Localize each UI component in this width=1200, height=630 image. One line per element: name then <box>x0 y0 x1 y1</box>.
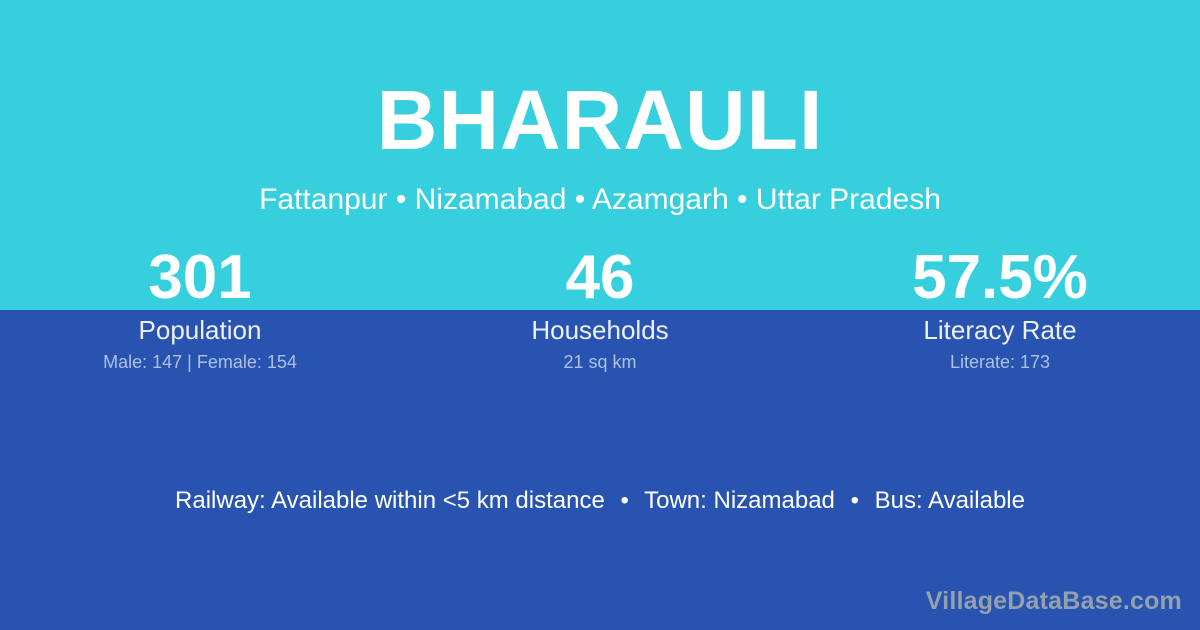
amenities-summary: Railway: Available within <5 km distance… <box>0 486 1200 516</box>
stat-label: Literacy Rate <box>800 314 1200 346</box>
village-info-card: BHARAULI Fattanpur • Nizamabad • Azamgar… <box>0 0 1200 630</box>
amenity-separator: • <box>611 487 637 514</box>
stat-sublabel: Male: 147 | Female: 154 <box>0 351 400 373</box>
stat-value: 301 <box>0 246 400 310</box>
stat-label: Households <box>400 314 800 346</box>
amenity-town: Town: Nizamabad <box>644 487 835 514</box>
stat-literacy-rate: 57.5% Literacy Rate Literate: 173 <box>800 246 1200 386</box>
stats-grid: 301 Population Male: 147 | Female: 154 4… <box>0 246 1200 386</box>
page-title: BHARAULI <box>0 78 1200 162</box>
amenity-separator: • <box>842 487 868 514</box>
stat-value: 57.5% <box>800 246 1200 310</box>
stat-label: Population <box>0 314 400 346</box>
stat-value: 46 <box>400 246 800 310</box>
stat-sublabel: 21 sq km <box>400 351 800 373</box>
amenity-bus: Bus: Available <box>875 487 1025 514</box>
breadcrumb: Fattanpur • Nizamabad • Azamgarh • Uttar… <box>0 182 1200 218</box>
amenity-railway: Railway: Available within <5 km distance <box>175 487 605 514</box>
stat-population: 301 Population Male: 147 | Female: 154 <box>0 246 400 386</box>
stat-households: 46 Households 21 sq km <box>400 246 800 386</box>
site-brand-watermark: VillageDataBase.com <box>926 586 1182 616</box>
stat-sublabel: Literate: 173 <box>800 351 1200 373</box>
